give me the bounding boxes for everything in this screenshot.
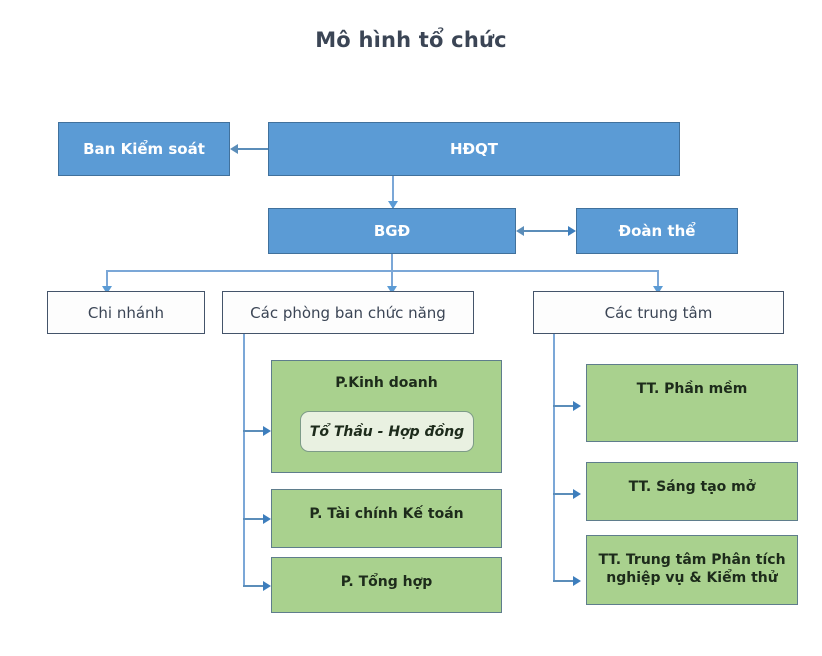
connector-level3-bus [106, 270, 658, 272]
arrowhead-doan-the-right [568, 226, 576, 236]
node-ban-kiem-soat[interactable]: Ban Kiểm soát [58, 122, 230, 176]
node-p-tai-chinh-ke-toan[interactable]: P. Tài chính Kế toán [271, 489, 502, 548]
arrowhead-tt-phan-mem [573, 401, 581, 411]
node-label-cac-phong-ban: Các phòng ban chức năng [250, 304, 446, 322]
node-label-p-kinh-doanh: P.Kinh doanh [329, 375, 443, 393]
arrowhead-tt-sang-tao-mo [573, 489, 581, 499]
node-label-chi-nhanh: Chi nhánh [88, 304, 164, 322]
node-label-doan-the: Đoàn thể [619, 222, 696, 240]
node-label-tt-phan-tich-nghiep-vu: TT. Trung tâm Phân tích nghiệp vụ & Kiểm… [592, 552, 791, 587]
node-tt-phan-tich-nghiep-vu[interactable]: TT. Trung tâm Phân tích nghiệp vụ & Kiểm… [586, 535, 798, 605]
node-cac-phong-ban[interactable]: Các phòng ban chức năng [222, 291, 474, 334]
arrowhead-p-kinh-doanh [263, 426, 271, 436]
node-hdqt[interactable]: HĐQT [268, 122, 680, 176]
node-label-tt-phan-mem: TT. Phần mềm [631, 381, 754, 399]
connector-bgd-doan-the [524, 230, 568, 232]
connector-departments-spine [243, 334, 245, 586]
node-label-cac-trung-tam: Các trung tâm [605, 304, 713, 322]
connector-centers-spine [553, 334, 555, 581]
arrowhead-p-tai-chinh-ke-toan [263, 514, 271, 524]
node-label-tt-sang-tao-mo: TT. Sáng tạo mở [623, 479, 762, 497]
node-label-ban-kiem-soat: Ban Kiểm soát [83, 140, 205, 158]
node-tt-sang-tao-mo[interactable]: TT. Sáng tạo mở [586, 462, 798, 521]
connector-hdqt-to-ban-kiem-soat [238, 148, 268, 150]
page-title: Mô hình tổ chức [0, 28, 822, 52]
arrowhead-tt-phan-tich [573, 576, 581, 586]
node-label-hdqt: HĐQT [450, 140, 498, 158]
arrowhead-p-tong-hop [263, 581, 271, 591]
arrowhead-bgd-left [516, 226, 524, 236]
node-bgd[interactable]: BGĐ [268, 208, 516, 254]
node-label-bgd: BGĐ [374, 222, 410, 240]
arrowhead-ban-kiem-soat [230, 144, 238, 154]
node-chi-nhanh[interactable]: Chi nhánh [47, 291, 205, 334]
node-doan-the[interactable]: Đoàn thể [576, 208, 738, 254]
node-label-p-tong-hop: P. Tổng hợp [335, 574, 439, 592]
node-tt-phan-mem[interactable]: TT. Phần mềm [586, 364, 798, 442]
node-label-p-tai-chinh-ke-toan: P. Tài chính Kế toán [303, 506, 469, 524]
node-label-tt-phan-tich-line2: nghiệp vụ & Kiểm thử [606, 570, 777, 586]
node-to-thau-hop-dong[interactable]: Tổ Thầu - Hợp đồng [300, 411, 474, 452]
node-p-tong-hop[interactable]: P. Tổng hợp [271, 557, 502, 613]
org-chart-canvas: Mô hình tổ chức Ban Kiểm soát HĐQT BGĐ Đ… [0, 0, 822, 656]
node-label-to-thau-hop-dong: Tổ Thầu - Hợp đồng [310, 424, 464, 440]
node-cac-trung-tam[interactable]: Các trung tâm [533, 291, 784, 334]
node-label-tt-phan-tich-line1: TT. Trung tâm Phân tích [598, 552, 785, 568]
